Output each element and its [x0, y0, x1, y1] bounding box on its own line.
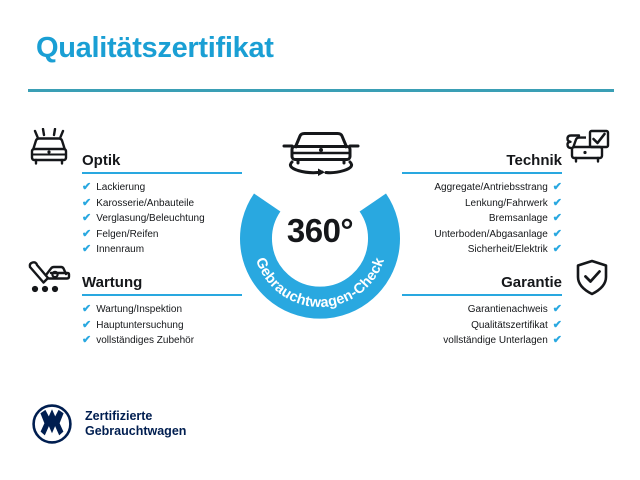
section-header: Garantie: [402, 268, 562, 294]
section-divider: [402, 294, 562, 296]
section-title: Technik: [506, 152, 562, 169]
car-shine-icon: [26, 128, 72, 168]
quality-certificate-page: Qualitätszertifikat: [0, 0, 640, 480]
vw-logo: [32, 404, 72, 444]
list-item: ✔Karosserie/Anbauteile: [82, 196, 242, 212]
list-item: ✔Bremsanlage: [402, 211, 562, 227]
checklist-optik: ✔Lackierung ✔Karosserie/Anbauteile ✔Verg…: [82, 172, 242, 258]
section-header: Wartung: [82, 268, 242, 294]
section-title: Wartung: [82, 274, 142, 291]
check-icon: ✔: [553, 229, 562, 240]
list-item-label: Lenkung/Fahrwerk: [465, 196, 548, 212]
car-checkbox-icon: [566, 128, 612, 168]
list-item-label: Lackierung: [96, 180, 145, 196]
list-item-label: Verglasung/Beleuchtung: [96, 211, 204, 227]
check-icon: ✔: [82, 182, 91, 193]
check-icon: ✔: [82, 244, 91, 255]
list-item: ✔Innenraum: [82, 242, 242, 258]
list-item-label: Wartung/Inspektion: [96, 302, 182, 318]
section-header: Optik: [82, 146, 242, 172]
section-divider: [82, 294, 242, 296]
list-item-label: Unterboden/Abgasanlage: [434, 227, 547, 243]
footer-text: Zertifizierte Gebrauchtwagen: [85, 409, 186, 439]
check-icon: ✔: [553, 244, 562, 255]
check-icon: ✔: [82, 229, 91, 240]
car-rotate-icon: [278, 126, 364, 176]
list-item-label: Sicherheit/Elektrik: [468, 242, 548, 258]
list-item-label: Aggregate/Antriebsstrang: [434, 180, 547, 196]
list-item: ✔Wartung/Inspektion: [82, 302, 242, 318]
list-item: ✔Hauptuntersuchung: [82, 318, 242, 334]
check-icon: ✔: [553, 182, 562, 193]
list-item-label: Bremsanlage: [489, 211, 548, 227]
list-item-label: Qualitätszertifikat: [471, 318, 548, 334]
list-item-label: Karosserie/Anbauteile: [96, 196, 194, 212]
check-icon: ✔: [82, 335, 91, 346]
badge-degrees-label: 360°: [235, 212, 405, 250]
list-item-label: Innenraum: [96, 242, 144, 258]
section-technik: Technik ✔Aggregate/Antriebsstrang ✔Lenku…: [402, 146, 562, 258]
list-item: ✔Verglasung/Beleuchtung: [82, 211, 242, 227]
section-header: Technik: [402, 146, 562, 172]
check-icon: ✔: [82, 320, 91, 331]
page-title: Qualitätszertifikat: [36, 32, 274, 65]
section-divider: [402, 172, 562, 174]
list-item-label: vollständiges Zubehör: [96, 333, 194, 349]
section-divider: [82, 172, 242, 174]
list-item: ✔Lackierung: [82, 180, 242, 196]
check-icon: ✔: [82, 213, 91, 224]
section-garantie: Garantie ✔Garantienachweis ✔Qualitätszer…: [402, 268, 562, 349]
checklist-technik: ✔Aggregate/Antriebsstrang ✔Lenkung/Fahrw…: [402, 172, 562, 258]
check-icon: ✔: [553, 335, 562, 346]
check-icon: ✔: [82, 304, 91, 315]
title-divider: [28, 89, 614, 92]
list-item: ✔vollständiges Zubehör: [82, 333, 242, 349]
list-item-label: vollständige Unterlagen: [443, 333, 548, 349]
checklist-wartung: ✔Wartung/Inspektion ✔Hauptuntersuchung ✔…: [82, 294, 242, 349]
list-item-label: Garantienachweis: [468, 302, 548, 318]
list-item: ✔Garantienachweis: [402, 302, 562, 318]
check-icon: ✔: [553, 304, 562, 315]
section-title: Optik: [82, 152, 120, 169]
check-icon: ✔: [553, 320, 562, 331]
list-item: ✔Sicherheit/Elektrik: [402, 242, 562, 258]
section-title: Garantie: [501, 274, 562, 291]
check-icon: ✔: [553, 198, 562, 209]
section-wartung: Wartung ✔Wartung/Inspektion ✔Hauptunters…: [82, 268, 242, 349]
list-item: ✔Lenkung/Fahrwerk: [402, 196, 562, 212]
shield-check-icon: [570, 258, 616, 298]
section-optik: Optik ✔Lackierung ✔Karosserie/Anbauteile…: [82, 146, 242, 258]
list-item: ✔vollständige Unterlagen: [402, 333, 562, 349]
check-icon: ✔: [553, 213, 562, 224]
list-item: ✔Felgen/Reifen: [82, 227, 242, 243]
footer-line-1: Zertifizierte: [85, 409, 186, 424]
list-item-label: Hauptuntersuchung: [96, 318, 183, 334]
footer-branding: Zertifizierte Gebrauchtwagen: [32, 404, 186, 444]
footer-line-2: Gebrauchtwagen: [85, 424, 186, 439]
check-icon: ✔: [82, 198, 91, 209]
checklist-garantie: ✔Garantienachweis ✔Qualitätszertifikat ✔…: [402, 294, 562, 349]
list-item: ✔Unterboden/Abgasanlage: [402, 227, 562, 243]
list-item-label: Felgen/Reifen: [96, 227, 158, 243]
list-item: ✔Aggregate/Antriebsstrang: [402, 180, 562, 196]
list-item: ✔Qualitätszertifikat: [402, 318, 562, 334]
wrench-car-icon: [26, 258, 72, 298]
